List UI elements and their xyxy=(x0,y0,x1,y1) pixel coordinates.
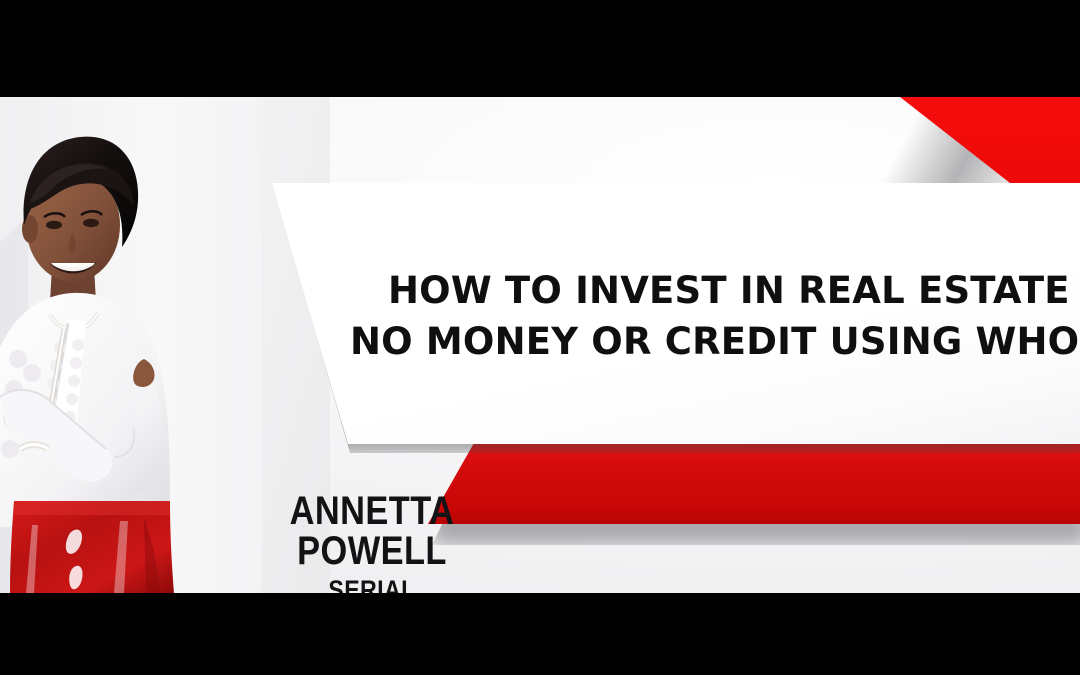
headline-line-1: HOW TO INVEST IN REAL ESTATE WITH xyxy=(388,269,1080,312)
presenter-name-block: ANNETTA POWELL SERIAL ENTREPRENEUR xyxy=(236,491,508,593)
headline-text: HOW TO INVEST IN REAL ESTATE WITH NO MON… xyxy=(388,265,1080,367)
presenter-title: SERIAL ENTREPRENEUR xyxy=(255,575,489,593)
presenter-name: ANNETTA POWELL xyxy=(255,491,489,571)
red-band-bottom xyxy=(428,443,1080,524)
slide-content-area: HOW TO INVEST IN REAL ESTATE WITH NO MON… xyxy=(0,97,1080,593)
presenter-portrait xyxy=(0,97,262,593)
presentation-slide: HOW TO INVEST IN REAL ESTATE WITH NO MON… xyxy=(0,0,1080,675)
letterbox-bar-bottom xyxy=(0,593,1080,675)
letterbox-bar-top xyxy=(0,0,1080,97)
headline-line-2: NO MONEY OR CREDIT USING WHOLESALING xyxy=(350,316,1080,367)
